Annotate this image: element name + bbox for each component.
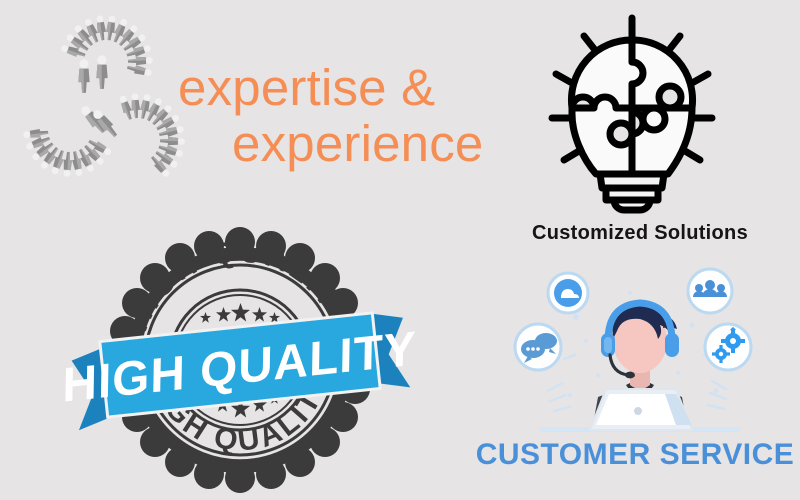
customer-service-label: CUSTOMER SERVICE (470, 438, 800, 472)
panel-high-quality: HIGH QUALITY HIGH QUALITY (0, 200, 480, 500)
lightbulb-puzzle-icon (522, 12, 742, 212)
people-circle-icon (18, 22, 193, 197)
chat-bubbles-icon (515, 324, 561, 370)
support-agent-icon (480, 255, 790, 450)
customized-solutions-label: Customized Solutions (480, 222, 800, 245)
gears-icon (705, 324, 751, 370)
high-quality-stamp: HIGH QUALITY HIGH QUALITY (95, 215, 385, 485)
panel-customized-solutions: Customized Solutions (480, 0, 800, 260)
people-group-icon (688, 269, 732, 313)
panel-customer-service: CUSTOMER SERVICE (470, 255, 800, 500)
panel-expertise: expertise & experience (0, 0, 480, 210)
expertise-line-1: expertise & (178, 62, 435, 113)
cloud-icon (548, 273, 588, 313)
poster-canvas: expertise & experience (0, 0, 800, 500)
expertise-line-2: experience (232, 118, 484, 169)
agent-figure (590, 303, 692, 430)
